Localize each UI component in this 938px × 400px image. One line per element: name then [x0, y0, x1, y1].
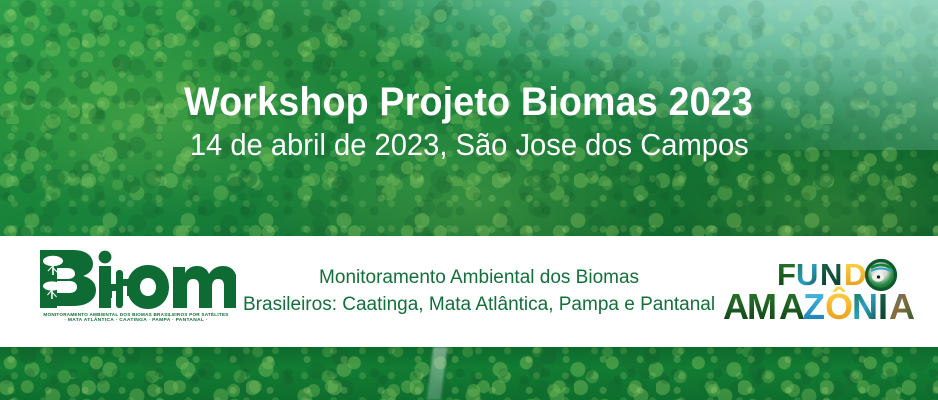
biomas-wordmark-icon: [36, 248, 236, 310]
footer-canopy-texture-fine: [0, 347, 938, 400]
event-date-location: 14 de abril de 2023, São Jose dos Campos: [190, 127, 749, 164]
svg-text:I: I: [878, 286, 887, 327]
logo-band: MONITORAMENTO AMBIENTAL DOS BIOMAS BRASI…: [0, 236, 938, 347]
svg-text:A: A: [889, 286, 915, 327]
footer-forest-strip: [0, 347, 938, 400]
svg-text:A: A: [779, 286, 805, 327]
fundo-amazonia-wordmark-icon: F U N D A M A Z Ô N: [721, 255, 921, 329]
event-title: Workshop Projeto Biomas 2023: [185, 80, 754, 125]
svg-text:A: A: [723, 286, 749, 327]
biomas-logo: MONITORAMENTO AMBIENTAL DOS BIOMAS BRASI…: [28, 246, 243, 338]
tagline-line-2: Brasileiros: Caatinga, Mata Atlântica, P…: [243, 292, 715, 319]
svg-text:Ô: Ô: [825, 285, 852, 327]
tagline-line-1: Monitoramento Ambiental dos Biomas: [243, 265, 715, 292]
hero-section: Workshop Projeto Biomas 2023 14 de abril…: [0, 0, 938, 236]
svg-text:Z: Z: [803, 286, 824, 327]
biomas-logo-tagline: MONITORAMENTO AMBIENTAL DOS BIOMAS BRASI…: [34, 312, 238, 325]
band-tagline: Monitoramento Ambiental dos Biomas Brasi…: [237, 265, 721, 319]
svg-text:N: N: [852, 286, 877, 327]
fundo-amazonia-logo: F U N D A M A Z Ô N: [721, 255, 921, 329]
hero-text-block: Workshop Projeto Biomas 2023 14 de abril…: [0, 0, 938, 236]
svg-text:M: M: [747, 286, 776, 327]
biomas-tagline-line2: · MATA ATLÂNTICA · CAATINGA · PAMPA · PA…: [34, 318, 238, 325]
event-banner: Workshop Projeto Biomas 2023 14 de abril…: [0, 0, 938, 400]
biomas-tagline-line1: MONITORAMENTO AMBIENTAL DOS BIOMAS BRASI…: [34, 312, 238, 318]
